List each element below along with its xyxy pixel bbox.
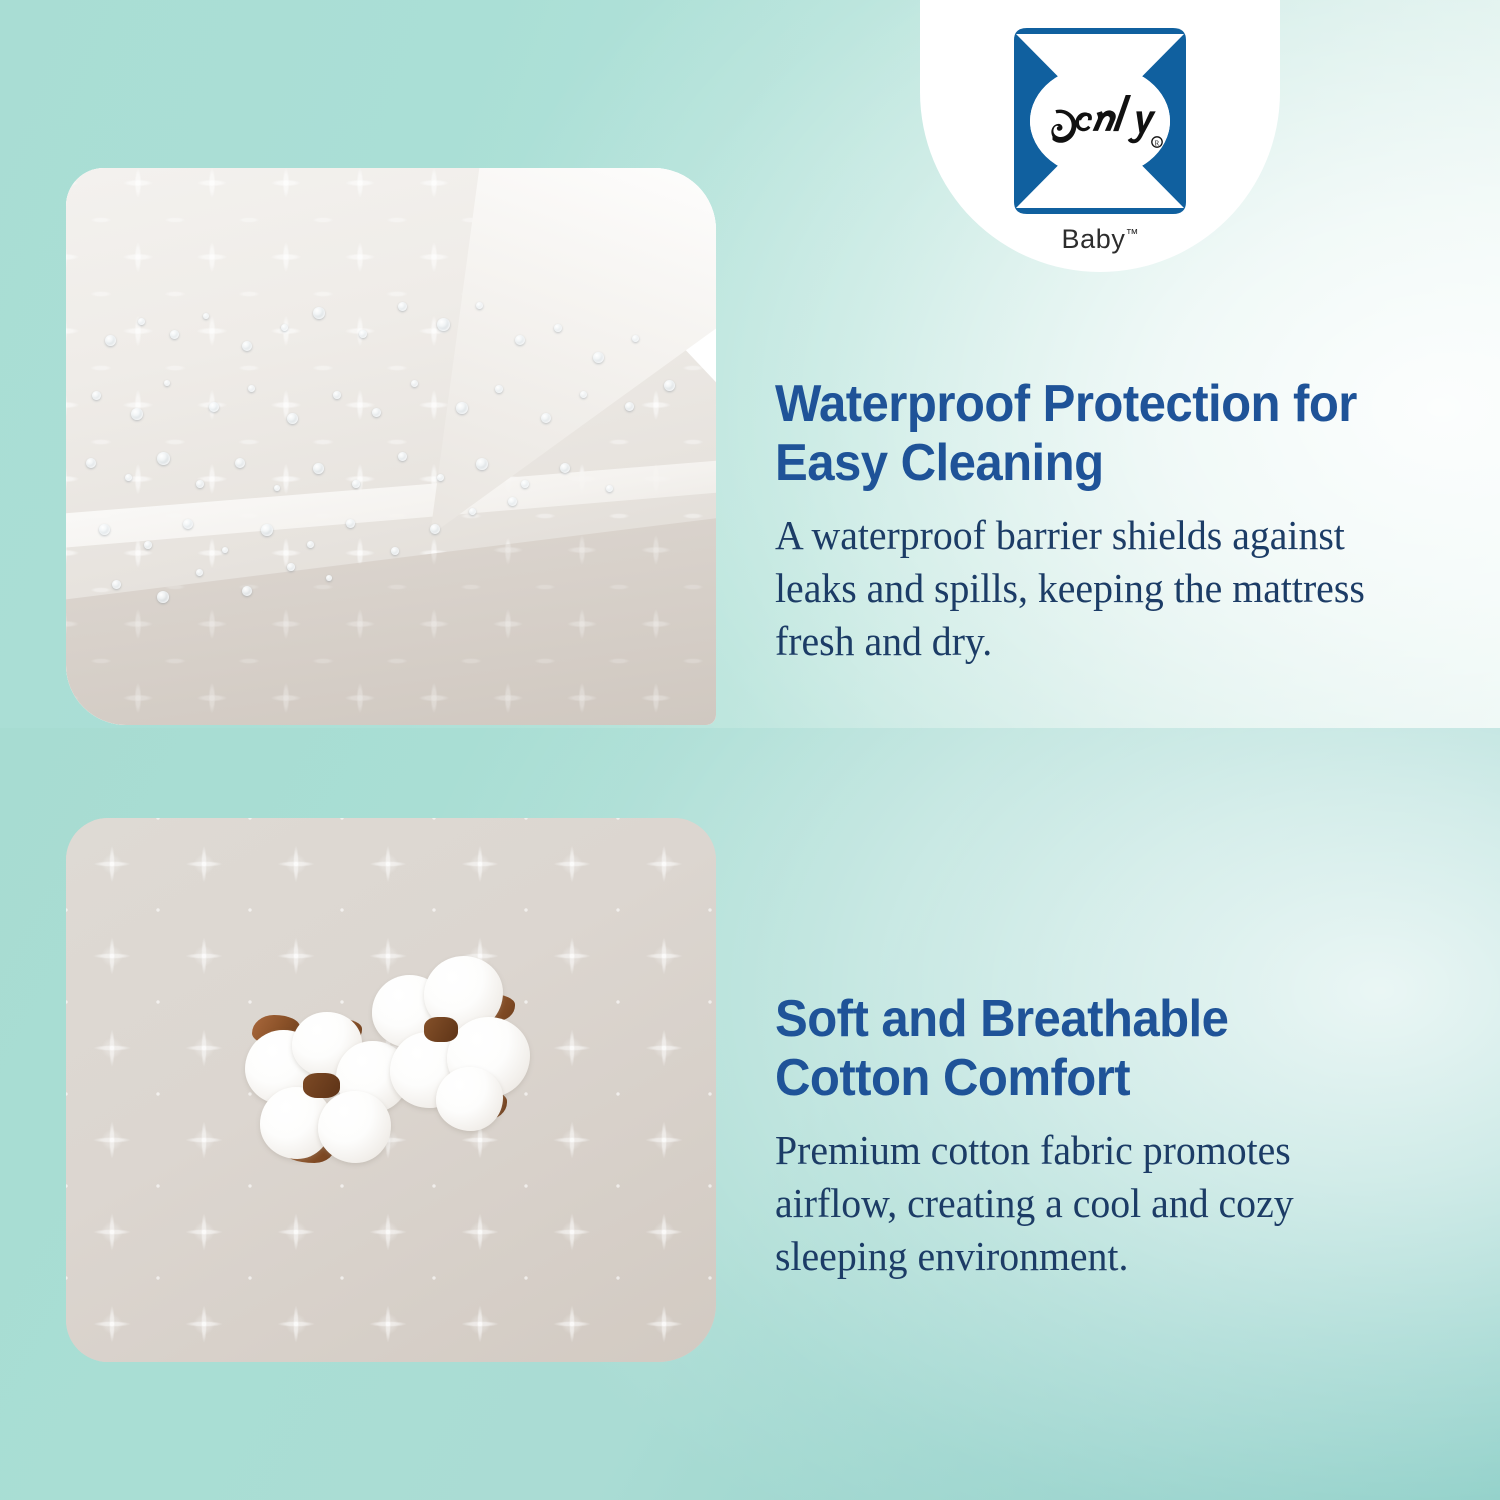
cotton-boll-right: [372, 949, 561, 1139]
feature-body-cotton: Premium cotton fabric promotes airflow, …: [775, 1124, 1396, 1284]
feature-image-waterproof: [66, 168, 716, 725]
svg-text:R: R: [1155, 140, 1160, 148]
feature-body-waterproof: A waterproof barrier shields against lea…: [775, 509, 1415, 669]
feature-heading-waterproof: Waterproof Protection for Easy Cleaning: [775, 375, 1399, 493]
feature-text-cotton: Soft and Breathable Cotton Comfort Premi…: [775, 990, 1415, 1283]
waterproof-mattress-photo: [66, 168, 716, 725]
feature-heading-cotton: Soft and Breathable Cotton Comfort: [775, 990, 1380, 1108]
feature-text-waterproof: Waterproof Protection for Easy Cleaning …: [775, 375, 1435, 668]
sub-brand-label: Baby™: [1062, 224, 1139, 255]
trademark-symbol: ™: [1125, 226, 1138, 241]
cotton-bolls-photo: [66, 818, 716, 1362]
sealy-bowtie-logo-icon: R: [1000, 24, 1200, 218]
water-droplets-icon: [66, 168, 716, 725]
feature-image-cotton: [66, 818, 716, 1362]
product-feature-canvas: R Baby™: [0, 0, 1500, 1500]
